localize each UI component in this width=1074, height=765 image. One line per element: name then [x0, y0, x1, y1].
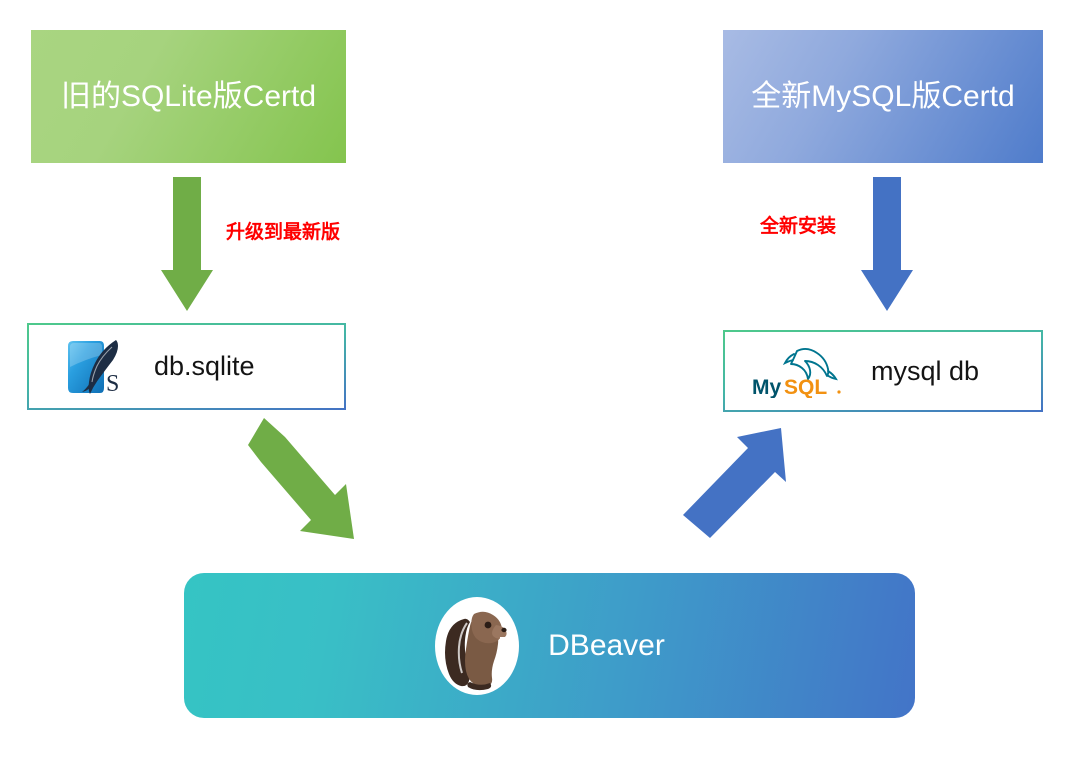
arrow-diagonal-dbeaver-to-mysql-icon — [668, 420, 798, 550]
node-mysql-db-label: mysql db — [871, 356, 979, 387]
arrow-diagonal-sqlite-to-dbeaver-icon — [248, 415, 373, 545]
mysql-logo-my-text: My — [752, 376, 781, 398]
arrow-down-upgrade-icon — [161, 177, 217, 311]
node-new-certd: 全新MySQL版Certd — [723, 30, 1043, 163]
node-mysql-db: My SQL mysql db — [723, 330, 1043, 412]
sqlite-logo-icon: S — [64, 339, 126, 395]
node-sqlite-db: S db.sqlite — [27, 323, 346, 410]
dbeaver-beaver-icon — [434, 596, 520, 696]
edge-label-upgrade: 升级到最新版 — [226, 217, 340, 244]
node-dbeaver-label: DBeaver — [548, 629, 665, 663]
sqlite-logo-s-letter: S — [106, 371, 119, 395]
diagram-canvas: 旧的SQLite版Certd 全新MySQL版Certd 升级到最新版 全新安装 — [0, 0, 1074, 765]
mysql-logo-icon: My SQL — [751, 344, 847, 398]
node-old-certd: 旧的SQLite版Certd — [31, 30, 346, 163]
node-dbeaver: DBeaver — [184, 573, 915, 718]
edge-label-install: 全新安装 — [760, 211, 836, 238]
node-new-certd-label: 全新MySQL版Certd — [751, 79, 1014, 115]
node-old-certd-label: 旧的SQLite版Certd — [61, 79, 316, 115]
node-sqlite-db-label: db.sqlite — [154, 351, 255, 382]
mysql-logo-sql-text: SQL — [784, 376, 827, 398]
arrow-down-install-icon — [861, 177, 917, 311]
